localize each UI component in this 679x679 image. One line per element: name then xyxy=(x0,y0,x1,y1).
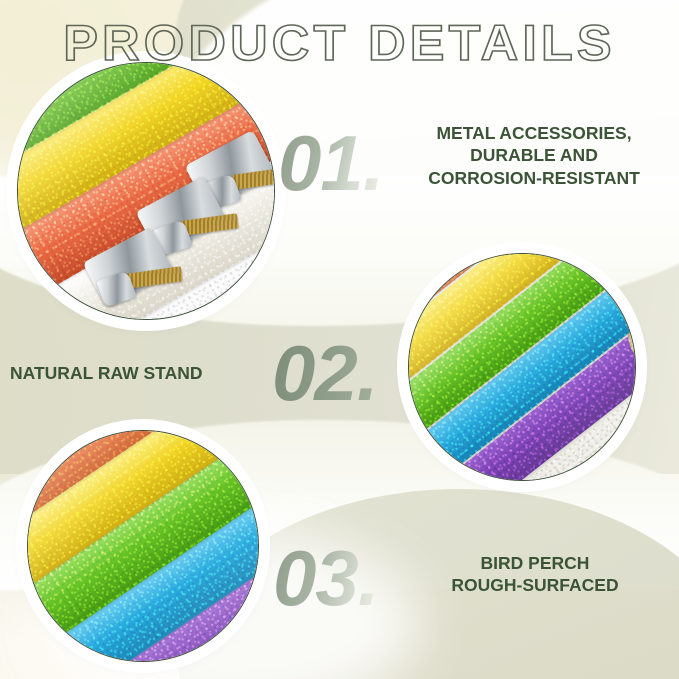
page-title: PRODUCT DETAILS xyxy=(0,18,679,68)
stick-bundle xyxy=(409,254,635,480)
section-1-image-circle xyxy=(17,62,275,320)
section-2-caption: NATURAL RAW STAND xyxy=(10,362,266,384)
section-1-caption: METAL ACCESSORIES, DURABLE AND CORROSION… xyxy=(396,122,672,189)
section-1-number: 01. xyxy=(278,118,383,209)
caption-line: BIRD PERCH xyxy=(404,552,666,574)
caption-line: ROUGH-SURFACED xyxy=(404,574,666,596)
perch-wooden-ends-photo xyxy=(409,254,635,480)
product-details-poster: PRODUCT DETAILS xyxy=(0,0,679,679)
stick-bundle xyxy=(28,431,258,661)
section-2-image-circle xyxy=(408,253,636,481)
section-3-caption: BIRD PERCH ROUGH-SURFACED xyxy=(404,552,666,597)
caption-line: NATURAL RAW STAND xyxy=(10,362,266,384)
section-2-number: 02. xyxy=(272,328,377,419)
caption-line: CORROSION-RESISTANT xyxy=(396,167,672,189)
caption-line: DURABLE AND xyxy=(396,144,672,166)
perch-rough-surface-photo xyxy=(28,431,258,661)
section-3-image-circle xyxy=(27,430,259,662)
caption-line: METAL ACCESSORIES, xyxy=(396,122,672,144)
perch-metal-hardware-photo xyxy=(18,63,274,319)
section-3-number: 03. xyxy=(273,533,378,624)
